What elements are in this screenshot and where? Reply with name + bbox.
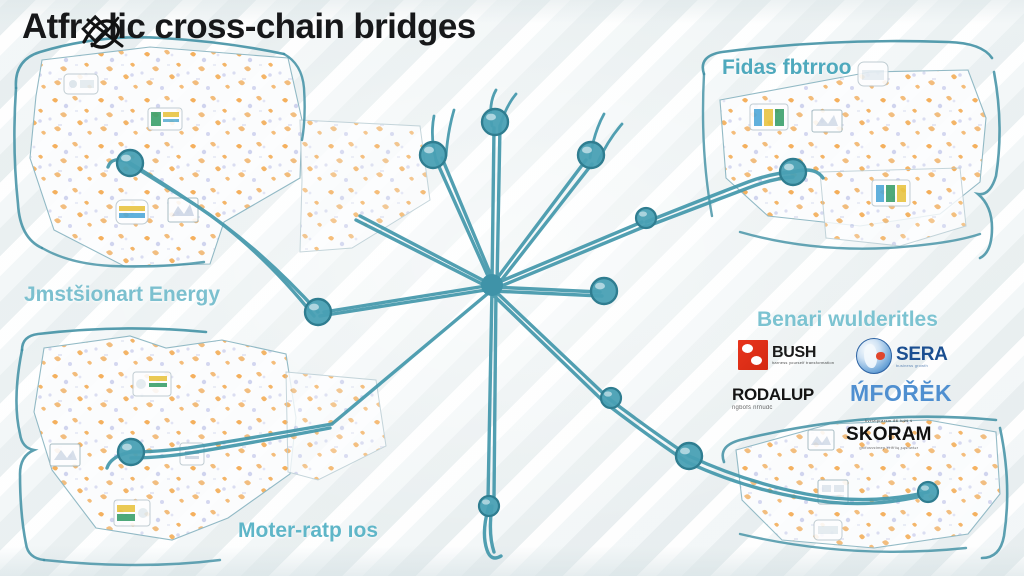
sera-globe-icon (856, 338, 892, 374)
logo-sera: SERA business growth (856, 338, 948, 374)
region-label-moter-ratp: Moter-ratp ıos (238, 519, 378, 543)
logo-sera-name: SERA (896, 345, 948, 364)
logo-mforek: ḾFOŘĔK (850, 382, 952, 405)
logo-skoram-tagline: gnifosvstmер ertfřiіą ʂąѕhwtər (846, 446, 932, 450)
logo-bush: BUSH harness yourself transformation (738, 340, 834, 370)
logo-rodalup-tagline: ngbofš nřňudč (732, 405, 814, 411)
region-label-benari-wulderitles: Benari wulderitles (757, 308, 938, 332)
logo-rodalup-name: RODALUP (732, 386, 814, 403)
logo-sera-tagline: business growth (896, 364, 948, 368)
page-title: Atfr◇lic cross-chain bridges (22, 7, 476, 47)
region-label-fidas: Fidas fbtrroo (722, 56, 852, 80)
slide-canvas: Atfr◇lic cross-chain bridges Fidas fbtrr… (0, 0, 1024, 576)
logo-bush-name: BUSH (772, 345, 834, 361)
logo-bush-tagline: harness yourself transformation (772, 361, 834, 365)
logo-skoram-kicker: kvrtziprаrѕm 86 łužš š (846, 418, 932, 423)
logo-skoram: kvrtziprаrѕm 86 łužš š SKORAM gnifosvstm… (846, 418, 932, 450)
logo-rodalup: RODALUP ngbofš nřňudč (732, 386, 814, 411)
sponsor-logo-cluster: BUSH harness yourself transformation SER… (730, 336, 995, 466)
bush-mark-icon (738, 340, 768, 370)
logo-mforek-name: ḾFOŘĔK (850, 382, 952, 405)
region-label-jmstsionart-energy: Jmstšionart Energy (24, 283, 220, 307)
logo-skoram-name: SKORAM (846, 425, 932, 444)
